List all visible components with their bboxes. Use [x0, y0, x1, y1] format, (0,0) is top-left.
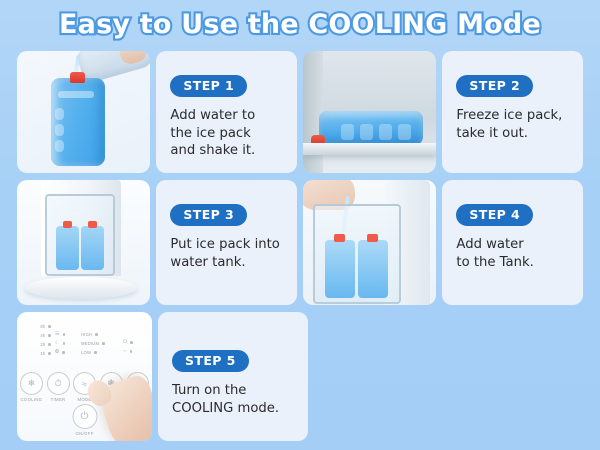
- speed-indicator-column: HIGH MEDIUM LOW: [81, 324, 119, 356]
- cooling-button-label: COOLING: [19, 397, 44, 402]
- freezer-shelf: [303, 143, 436, 155]
- control-panel: 8h 4h 2h 1h ☵ ☾ ❂ HIGH MEDIUM: [17, 312, 152, 441]
- step-5-badge: STEP 5: [172, 350, 249, 372]
- step-4-photo: [303, 180, 436, 305]
- timer-indicator-column: 8h 4h 2h 1h: [25, 324, 51, 356]
- speed-indicator-low: LOW: [81, 350, 119, 355]
- step-4-card: STEP 4 Add water to the Tank.: [442, 180, 583, 305]
- snowflake-icon: ❄: [20, 372, 43, 395]
- power-button[interactable]: ⏻ ON/OFF: [72, 404, 97, 436]
- ice-pack-icon: [51, 78, 105, 166]
- timer-button[interactable]: ⏱ TIMER: [46, 372, 71, 402]
- step-3-photo: [17, 180, 150, 305]
- step-2-card: STEP 2 Freeze ice pack, take it out.: [442, 51, 583, 173]
- title-banner: Easy to Use the COOLING Mode: [0, 4, 600, 44]
- ice-pack-cap-icon: [70, 72, 85, 83]
- step-4-badge: STEP 4: [456, 204, 533, 226]
- timer-indicator-8h: 8h: [40, 324, 51, 329]
- infographic-root: Easy to Use the COOLING Mode STEP 1 Add …: [0, 0, 600, 450]
- timer-indicator-2h: 2h: [40, 342, 51, 347]
- step-1-photo: [17, 51, 150, 173]
- ice-pack-flat-icon: [319, 111, 423, 145]
- speed-indicator-medium: MEDIUM: [81, 341, 119, 346]
- clock-icon: ⏱: [47, 372, 70, 395]
- step-5-card: STEP 5 Turn on the COOLING mode.: [158, 312, 308, 441]
- step-1-text: Add water to the ice pack and shake it.: [170, 107, 287, 160]
- power-button-label: ON/OFF: [72, 431, 97, 436]
- step-1-card: STEP 1 Add water to the ice pack and sha…: [156, 51, 297, 173]
- steps-grid: STEP 1 Add water to the ice pack and sha…: [17, 51, 583, 441]
- step-4-text: Add water to the Tank.: [456, 236, 573, 271]
- water-tank: [45, 194, 115, 276]
- mode-natural-icon: ☵: [55, 332, 77, 337]
- steps-row-2: STEP 3 Put ice pack into water tank. STE…: [17, 180, 583, 305]
- step-3-text: Put ice pack into water tank.: [170, 236, 287, 271]
- mode-normal-icon: ❂: [55, 350, 77, 355]
- steps-row-3: 8h 4h 2h 1h ☵ ☾ ❂ HIGH MEDIUM: [17, 312, 583, 441]
- fan-base: [25, 277, 137, 299]
- cooling-button[interactable]: ❄ COOLING: [19, 372, 44, 402]
- speed-indicator-high: HIGH: [81, 332, 119, 337]
- swing-icon: ⌢: [123, 349, 145, 354]
- timer-indicator-4h: 4h: [40, 333, 51, 338]
- power-icon: ⏻: [123, 340, 145, 345]
- step-3-card: STEP 3 Put ice pack into water tank.: [156, 180, 297, 305]
- indicator-grid: 8h 4h 2h 1h ☵ ☾ ❂ HIGH MEDIUM: [25, 324, 147, 356]
- power-indicator-column: ⏻ ⌢: [123, 324, 145, 356]
- hand-icon: [96, 373, 152, 441]
- mode-indicator-column: ☵ ☾ ❂: [55, 324, 77, 356]
- step-2-photo: [303, 51, 436, 173]
- step-2-badge: STEP 2: [456, 75, 533, 97]
- page-title: Easy to Use the COOLING Mode: [59, 9, 541, 40]
- step-5-text: Turn on the COOLING mode.: [172, 382, 298, 417]
- power-icon: ⏻: [72, 404, 97, 429]
- step-1-badge: STEP 1: [170, 75, 247, 97]
- mode-sleep-icon: ☾: [55, 341, 77, 346]
- step-5-photo: 8h 4h 2h 1h ☵ ☾ ❂ HIGH MEDIUM: [17, 312, 152, 441]
- water-tank: [313, 204, 401, 304]
- steps-row-1: STEP 1 Add water to the ice pack and sha…: [17, 51, 583, 173]
- timer-indicator-1h: 1h: [40, 351, 51, 356]
- step-3-badge: STEP 3: [170, 204, 247, 226]
- step-2-text: Freeze ice pack, take it out.: [456, 107, 573, 142]
- timer-button-label: TIMER: [46, 397, 71, 402]
